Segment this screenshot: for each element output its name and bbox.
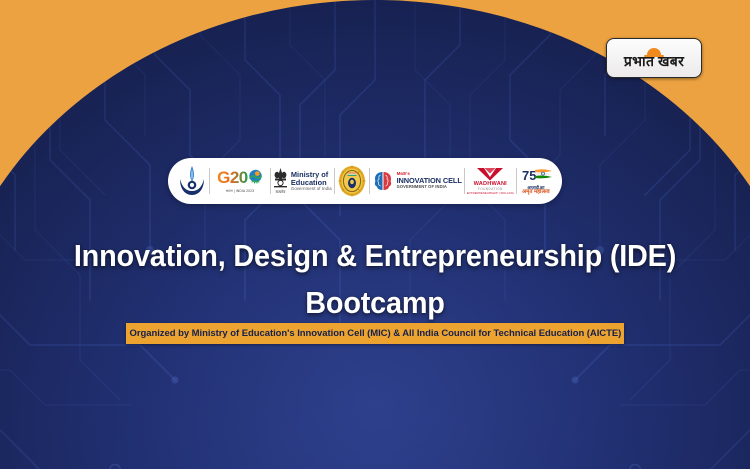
event-banner: प्रभात खबर G20 xyxy=(0,0,750,469)
organizer-bar: Organized by Ministry of Education's Inn… xyxy=(126,323,624,344)
logo-azadi: 75 आज़ादी का अमृत महोत्सव xyxy=(519,162,553,200)
sun-boat-icon xyxy=(644,47,664,57)
aicte-blue-flame-icon xyxy=(177,165,207,197)
logo-ministry-education: सत्यमेव Ministry of Education Government… xyxy=(273,162,332,200)
mic-line3: GOVERNMENT OF INDIA xyxy=(397,185,462,189)
logo-divider xyxy=(516,168,517,194)
aicte-gold-seal-icon xyxy=(337,165,367,197)
logo-aicte-emblem xyxy=(177,162,207,200)
prabhat-khabar-label: प्रभात खबर xyxy=(624,56,684,70)
organizer-text: Organized by Ministry of Education's Inn… xyxy=(129,328,621,339)
logo-divider xyxy=(369,168,370,194)
svg-text:75: 75 xyxy=(522,168,536,183)
event-title-line2: Bootcamp xyxy=(26,279,724,326)
azadi-line2: अमृत महोत्सव xyxy=(522,190,550,195)
g20-sublabel: भारत | INDIA 2023 xyxy=(226,188,254,193)
logo-divider xyxy=(209,168,210,194)
moe-line3: Government of India xyxy=(291,187,332,192)
brain-gear-icon xyxy=(372,170,394,192)
logo-divider xyxy=(464,168,465,194)
partner-logo-strip: G20 भारत | INDIA 2023 xyxy=(168,158,562,204)
logo-aicte-gold xyxy=(337,162,367,200)
logo-divider xyxy=(270,168,271,194)
prabhat-khabar-watermark: प्रभात खबर xyxy=(606,38,702,78)
wadhwani-line3: ENTREPRENEURSHIP | SKILLING xyxy=(467,192,514,195)
event-title-line1: Innovation, Design & Entrepreneurship (I… xyxy=(74,238,676,273)
logo-divider xyxy=(334,168,335,194)
logo-mic: MoE's INNOVATION CELL GOVERNMENT OF INDI… xyxy=(372,162,462,200)
tricolor-flag-icon: 75 xyxy=(519,167,553,185)
ashoka-emblem-icon: सत्यमेव xyxy=(273,166,288,196)
g20-label: G20 xyxy=(217,169,248,186)
g20-lotus-icon xyxy=(248,169,263,186)
logo-g20: G20 भारत | INDIA 2023 xyxy=(212,162,268,200)
logo-wadhwani: WADHWANI FOUNDATION ENTREPRENEURSHIP | S… xyxy=(467,162,514,200)
event-title: Innovation, Design & Entrepreneurship (I… xyxy=(26,232,724,326)
svg-text:सत्यमेव: सत्यमेव xyxy=(276,189,287,194)
red-bird-icon xyxy=(475,167,505,181)
